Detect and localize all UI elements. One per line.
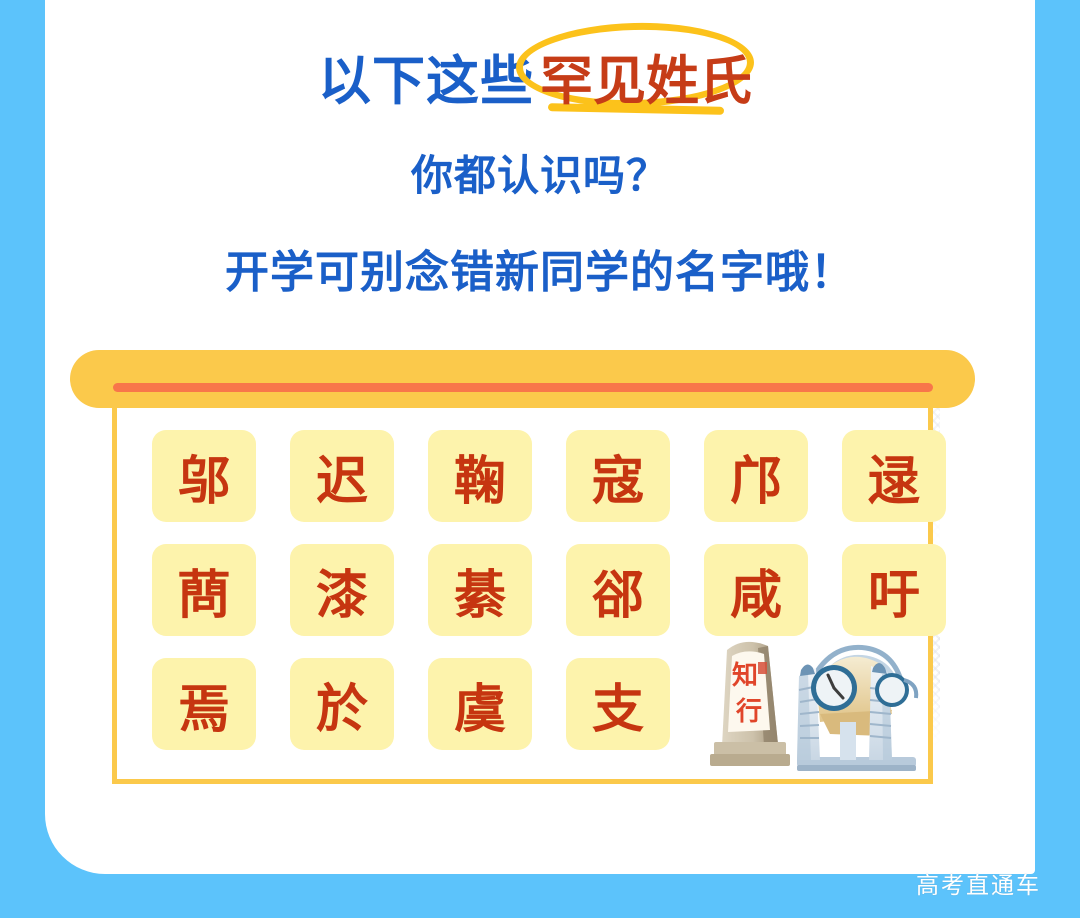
stele-char-top: 知 xyxy=(732,661,758,691)
character-cell[interactable]: 迟 xyxy=(290,430,394,522)
character-cell[interactable]: 寇 xyxy=(566,430,670,522)
character-cell[interactable]: 漆 xyxy=(290,544,394,636)
character-card: 邬迟鞠寇邝逯蔄漆綦郤咸吁焉於虞支 xyxy=(70,350,975,795)
character-cell[interactable]: 綦 xyxy=(428,544,532,636)
white-content-sheet: 以下这些 罕见姓氏 你都认识吗？ 开学可别念错新同学的名字哦！ 邬迟鞠寇邝逯蔄漆… xyxy=(45,0,1035,874)
character-cell[interactable]: 虞 xyxy=(428,658,532,750)
title-plain-text: 以下这些 xyxy=(318,39,534,115)
card-top-bar xyxy=(70,350,975,408)
subtitle-line-1: 你都认识吗？ xyxy=(45,142,1035,203)
title-highlight-text: 罕见姓氏 xyxy=(530,51,762,112)
poster-root: 以下这些 罕见姓氏 你都认识吗？ 开学可别念错新同学的名字哦！ 邬迟鞠寇邝逯蔄漆… xyxy=(0,0,1080,918)
subtitle-line-2: 开学可别念错新同学的名字哦！ xyxy=(45,236,1035,300)
character-cell[interactable]: 焉 xyxy=(152,658,256,750)
stele-char-bottom: 行 xyxy=(735,696,762,727)
character-cell[interactable]: 邝 xyxy=(704,430,808,522)
page-title: 以下这些 罕见姓氏 xyxy=(45,38,1035,116)
character-cell[interactable]: 鞠 xyxy=(428,430,532,522)
character-cell[interactable]: 蔄 xyxy=(152,544,256,636)
grid-row: 邬迟鞠寇邝逯 xyxy=(152,430,992,522)
stone-stele-graphic: 知 行 xyxy=(710,642,790,766)
stele-and-clock-gate-illustration: 知 行 xyxy=(696,618,941,793)
watermark-label: 高考直通车 xyxy=(916,866,1041,900)
character-cell[interactable]: 郤 xyxy=(566,544,670,636)
character-cell[interactable]: 逯 xyxy=(842,430,946,522)
clock-gate-graphic xyxy=(797,647,916,771)
card-orange-rule xyxy=(113,383,933,392)
character-cell[interactable]: 邬 xyxy=(152,430,256,522)
character-cell[interactable]: 支 xyxy=(566,658,670,750)
character-cell[interactable]: 於 xyxy=(290,658,394,750)
title-highlight-group: 罕见姓氏 xyxy=(530,39,762,115)
illustration-svg: 知 行 xyxy=(696,618,941,793)
